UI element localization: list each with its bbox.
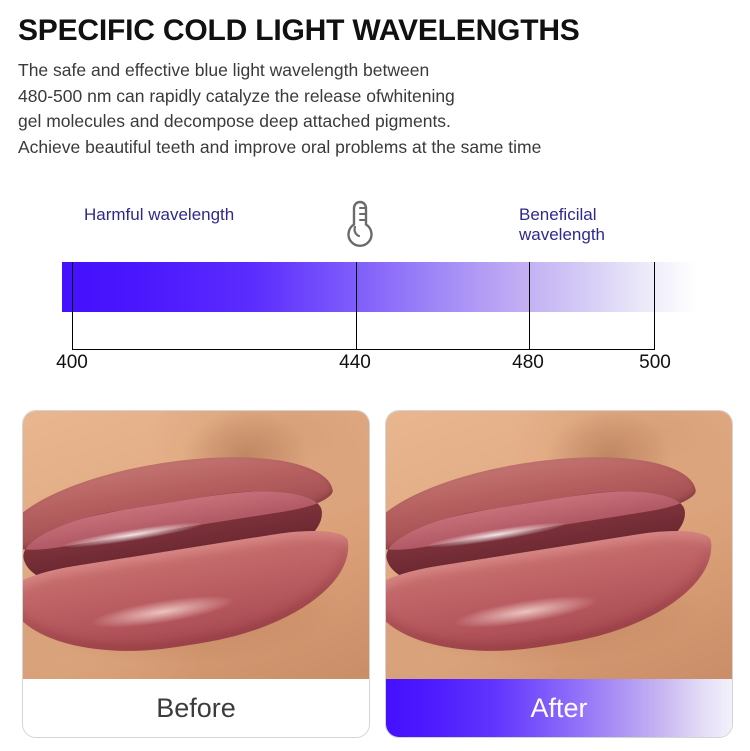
legend-harmful-wavelength: Harmful wavelength xyxy=(84,205,234,225)
axis-label-440: 440 xyxy=(339,352,371,374)
legend-beneficial-line-2: wavelength xyxy=(519,225,605,245)
axis-tick-480 xyxy=(529,262,530,350)
page-title: SPECIFIC COLD LIGHT WAVELENGTHS xyxy=(18,16,732,46)
after-photo xyxy=(386,411,732,681)
before-caption: Before xyxy=(23,679,369,737)
intro-line-4: Achieve beautiful teeth and improve oral… xyxy=(18,135,732,161)
before-after-comparison: Before xyxy=(0,410,750,744)
legend-beneficial-wavelength: Beneficilal wavelength xyxy=(519,205,605,245)
intro-line-3: gel molecules and decompose deep attache… xyxy=(18,109,732,135)
axis-label-400: 400 xyxy=(56,352,88,374)
intro-line-1: The safe and effective blue light wavele… xyxy=(18,58,732,84)
thermometer-icon xyxy=(338,196,382,252)
axis-label-480: 480 xyxy=(512,352,544,374)
after-caption: After xyxy=(386,679,732,737)
legend-beneficial-line-1: Beneficilal xyxy=(519,205,605,225)
axis-label-500: 500 xyxy=(639,352,671,374)
intro-paragraph: The safe and effective blue light wavele… xyxy=(18,58,732,160)
after-card: After xyxy=(385,410,733,738)
chart-legend: Harmful wavelength Beneficilal wavelengt… xyxy=(0,196,750,258)
before-photo xyxy=(23,411,369,681)
wavelength-chart: Harmful wavelength Beneficilal wavelengt… xyxy=(0,196,750,386)
before-card: Before xyxy=(22,410,370,738)
axis-tick-440 xyxy=(356,262,357,350)
axis-tick-labels: 400 440 480 500 xyxy=(0,352,750,382)
header: SPECIFIC COLD LIGHT WAVELENGTHS The safe… xyxy=(18,16,732,160)
intro-line-2: 480-500 nm can rapidly catalyze the rele… xyxy=(18,84,732,110)
chart-axis-frame xyxy=(72,262,655,350)
